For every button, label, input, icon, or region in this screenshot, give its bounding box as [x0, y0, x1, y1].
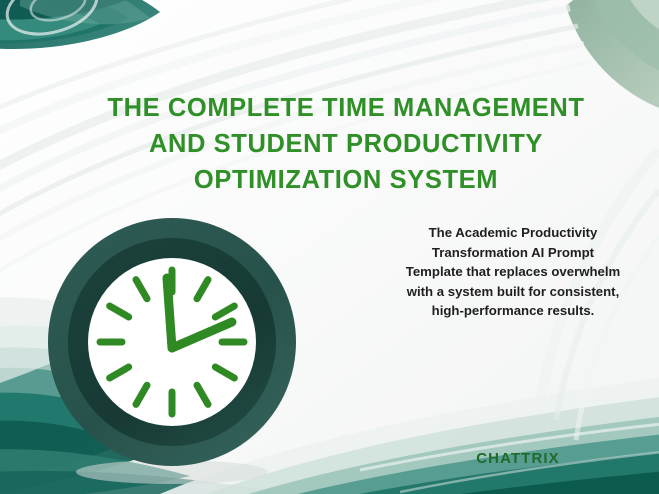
- subtitle-text: The Academic Productivity Transformation…: [404, 223, 622, 321]
- title-line-3: OPTIMIZATION SYSTEM: [96, 162, 596, 198]
- title-line-1: THE COMPLETE TIME MANAGEMENT: [96, 90, 596, 126]
- brand-block: CHATTRIX: [420, 450, 616, 468]
- poster-canvas: THE COMPLETE TIME MANAGEMENT AND STUDENT…: [0, 0, 659, 494]
- title-line-2: AND STUDENT PRODUCTIVITY: [96, 126, 596, 162]
- clock-minute-hand: [167, 278, 172, 348]
- analog-clock-icon: [46, 196, 298, 488]
- page-title: THE COMPLETE TIME MANAGEMENT AND STUDENT…: [96, 90, 596, 198]
- subtitle-block: The Academic Productivity Transformation…: [404, 210, 622, 334]
- brand-name: CHATTRIX: [476, 450, 560, 467]
